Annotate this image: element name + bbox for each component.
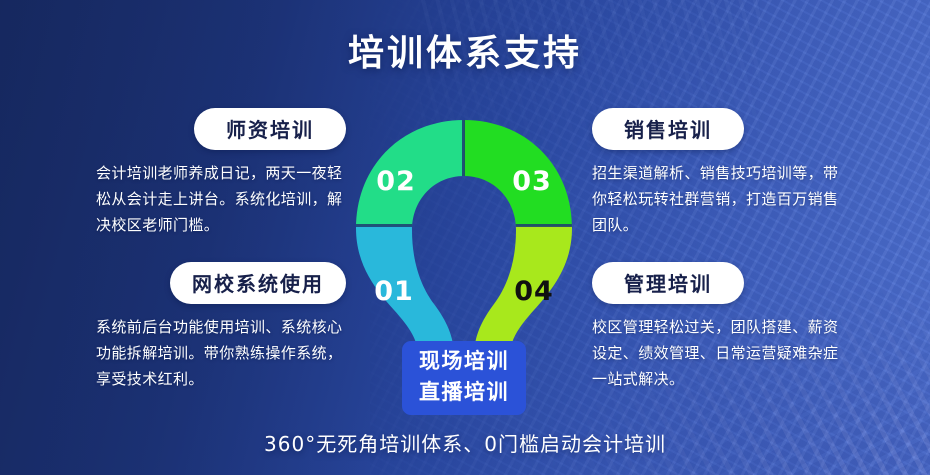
card-label-guanlipeixun[interactable]: 管理培训 xyxy=(592,262,744,304)
card-body-wangxiaoxitong: 系统前后台功能使用培训、系统核心功能拆解培训。带你熟练操作系统，享受技术红利。 xyxy=(96,314,346,392)
card-bottom-right: 管理培训 校区管理轻松过关，团队搭建、薪资设定、绩效管理、日常运营疑难杂症一站式… xyxy=(592,262,842,392)
segment-04-number: 04 xyxy=(514,276,554,307)
divider-horizontal xyxy=(350,224,578,227)
card-label-wrap: 销售培训 xyxy=(592,108,842,150)
infographic-canvas: 培训体系支持 师资培训 会计培训老师养成日记，两天一夜轻松从会计走上讲台。系统化… xyxy=(0,0,930,475)
card-bottom-left: 网校系统使用 系统前后台功能使用培训、系统核心功能拆解培训。带你熟练操作系统，享… xyxy=(96,262,346,392)
card-label-wangxiaoxitong[interactable]: 网校系统使用 xyxy=(170,262,346,304)
card-label-xiaoshoupeixun[interactable]: 销售培训 xyxy=(592,108,744,150)
card-body-xiaoshoupeixun: 招生渠道解析、销售技巧培训等，带你轻松玩转社群营销，打造百万销售团队。 xyxy=(592,160,842,238)
card-label-shizipeixun[interactable]: 师资培训 xyxy=(194,108,346,150)
card-body-guanlipeixun: 校区管理轻松过关，团队搭建、薪资设定、绩效管理、日常运营疑难杂症一站式解决。 xyxy=(592,314,842,392)
footer-caption: 360°无死角培训体系、0门槛启动会计培训 xyxy=(0,428,930,457)
segment-03-number: 03 xyxy=(512,166,552,197)
base-line-2: 直播培训 xyxy=(402,377,526,408)
bulb-base-text: 现场培训 直播培训 xyxy=(402,346,526,408)
base-line-1: 现场培训 xyxy=(402,346,526,377)
card-top-right: 销售培训 招生渠道解析、销售技巧培训等，带你轻松玩转社群营销，打造百万销售团队。 xyxy=(592,108,842,238)
card-label-wrap: 师资培训 xyxy=(96,108,346,150)
card-top-left: 师资培训 会计培训老师养成日记，两天一夜轻松从会计走上讲台。系统化培训，解决校区… xyxy=(96,108,346,238)
lightbulb-svg: 02 03 01 04 xyxy=(350,118,578,368)
lightbulb-diagram: 02 03 01 04 xyxy=(350,118,578,368)
bulb-segments xyxy=(350,118,578,368)
divider-vertical xyxy=(462,118,465,226)
page-title: 培训体系支持 xyxy=(0,24,930,76)
segment-01-number: 01 xyxy=(374,276,414,307)
segment-02-number: 02 xyxy=(376,166,416,197)
card-body-shizipeixun: 会计培训老师养成日记，两天一夜轻松从会计走上讲台。系统化培训，解决校区老师门槛。 xyxy=(96,160,346,238)
card-label-wrap: 管理培训 xyxy=(592,262,842,304)
card-label-wrap: 网校系统使用 xyxy=(96,262,346,304)
